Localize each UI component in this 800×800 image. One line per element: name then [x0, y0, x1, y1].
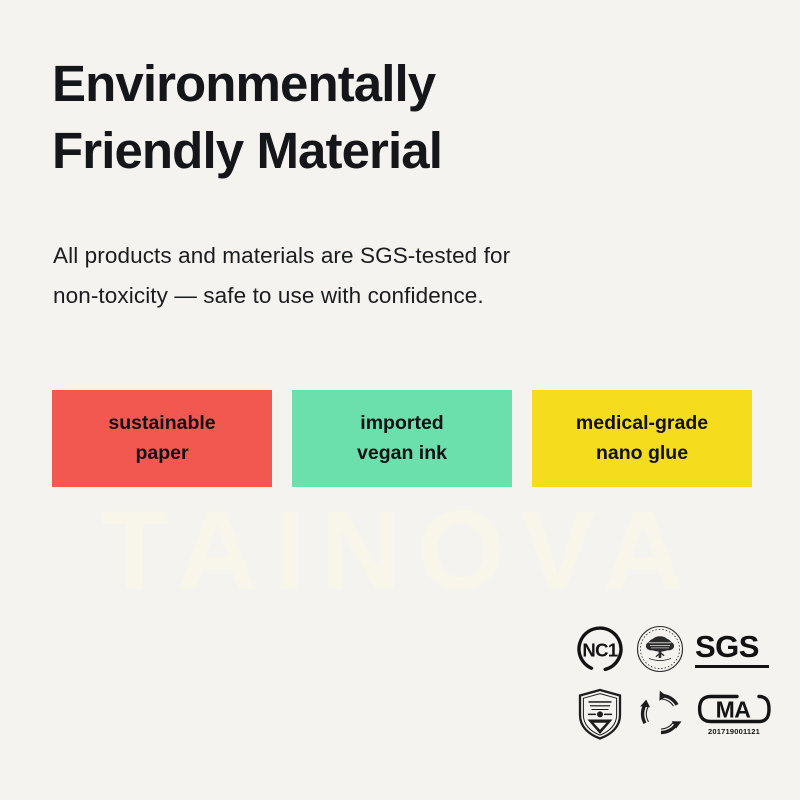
sgs-wordmark: SGS: [695, 631, 759, 662]
material-tag-line-2: paper: [135, 439, 188, 469]
material-tag-vegan-ink: imported vegan ink: [292, 390, 512, 487]
svg-text:NC1: NC1: [582, 640, 618, 661]
cma-icon: MA 201719001121: [697, 692, 771, 736]
material-tag-line-1: imported: [360, 409, 443, 439]
sgs-icon: SGS: [695, 631, 769, 668]
cma-certificate-number: 201719001121: [708, 728, 760, 736]
poster-canvas: TAINOVA Environmentally Friendly Materia…: [0, 0, 800, 800]
material-tag-line-2: nano glue: [596, 439, 688, 469]
material-tag-line-1: medical-grade: [576, 409, 708, 439]
svg-text:MA: MA: [716, 697, 751, 723]
recycle-icon: [635, 688, 687, 740]
nc1-icon: NC1: [575, 624, 625, 674]
description-line-2: non-toxicity — safe to use with confiden…: [53, 276, 673, 316]
certification-badge-row-bottom: MA 201719001121: [575, 684, 771, 744]
shield-icon: [575, 687, 625, 741]
material-tag-line-1: sustainable: [108, 409, 215, 439]
description-line-1: All products and materials are SGS-teste…: [53, 236, 673, 276]
page-title-line-2: Friendly Material: [52, 117, 672, 184]
material-tag-nano-glue: medical-grade nano glue: [532, 390, 752, 487]
certification-badge-row-top: NC1: [575, 620, 769, 678]
tree-seal-icon: [635, 624, 685, 674]
description-text: All products and materials are SGS-teste…: [53, 236, 673, 316]
brand-watermark: TAINOVA: [0, 495, 800, 607]
material-tag-list: sustainable paper imported vegan ink med…: [52, 390, 752, 487]
sgs-underline: [695, 665, 769, 668]
certification-badge-group: NC1: [575, 620, 780, 750]
material-tag-sustainable-paper: sustainable paper: [52, 390, 272, 487]
page-title: Environmentally Friendly Material: [52, 50, 672, 185]
page-title-line-1: Environmentally: [52, 50, 672, 117]
material-tag-line-2: vegan ink: [357, 439, 447, 469]
